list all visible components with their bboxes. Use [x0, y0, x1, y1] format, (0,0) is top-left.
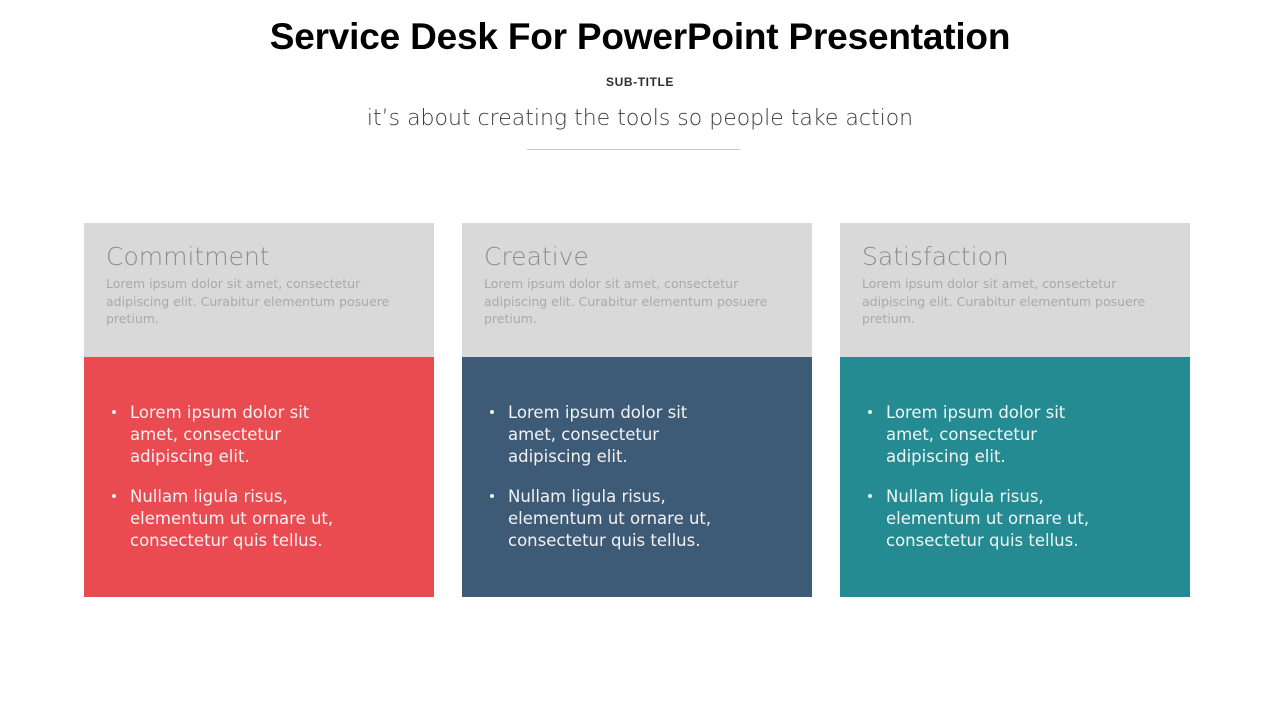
tagline-text: it’s about creating the tools so people … — [0, 106, 1280, 131]
card-body: Lorem ipsum dolor sit amet, consectetur … — [84, 357, 434, 597]
card-title: Commitment — [106, 241, 412, 272]
bullet-dot-icon — [868, 410, 872, 414]
bullet-dot-icon — [112, 494, 116, 498]
list-item: Nullam ligula risus, elementum ut ornare… — [488, 486, 723, 552]
card-commitment[interactable]: Commitment Lorem ipsum dolor sit amet, c… — [84, 223, 434, 597]
card-description: Lorem ipsum dolor sit amet, consectetur … — [862, 275, 1168, 328]
card-header: Satisfaction Lorem ipsum dolor sit amet,… — [840, 223, 1190, 357]
bullet-dot-icon — [112, 410, 116, 414]
list-item-text: Lorem ipsum dolor sit amet, consectetur … — [508, 403, 687, 466]
card-header: Commitment Lorem ipsum dolor sit amet, c… — [84, 223, 434, 357]
card-body: Lorem ipsum dolor sit amet, consectetur … — [462, 357, 812, 597]
list-item: Nullam ligula risus, elementum ut ornare… — [110, 486, 345, 552]
bullet-list: Lorem ipsum dolor sit amet, consectetur … — [488, 402, 786, 552]
card-title: Creative — [484, 241, 790, 272]
list-item: Lorem ipsum dolor sit amet, consectetur … — [110, 402, 345, 468]
bullet-list: Lorem ipsum dolor sit amet, consectetur … — [866, 402, 1164, 552]
list-item: Nullam ligula risus, elementum ut ornare… — [866, 486, 1101, 552]
bullet-dot-icon — [490, 410, 494, 414]
list-item-text: Nullam ligula risus, elementum ut ornare… — [886, 487, 1089, 550]
page-title: Service Desk For PowerPoint Presentation — [0, 16, 1280, 58]
header-divider — [527, 149, 740, 150]
card-description: Lorem ipsum dolor sit amet, consectetur … — [484, 275, 790, 328]
bullet-list: Lorem ipsum dolor sit amet, consectetur … — [110, 402, 408, 552]
card-creative[interactable]: Creative Lorem ipsum dolor sit amet, con… — [462, 223, 812, 597]
card-header: Creative Lorem ipsum dolor sit amet, con… — [462, 223, 812, 357]
list-item: Lorem ipsum dolor sit amet, consectetur … — [488, 402, 723, 468]
bullet-dot-icon — [490, 494, 494, 498]
card-satisfaction[interactable]: Satisfaction Lorem ipsum dolor sit amet,… — [840, 223, 1190, 597]
list-item-text: Nullam ligula risus, elementum ut ornare… — [508, 487, 711, 550]
subtitle-label: SUB-TITLE — [0, 75, 1280, 89]
list-item: Lorem ipsum dolor sit amet, consectetur … — [866, 402, 1101, 468]
card-body: Lorem ipsum dolor sit amet, consectetur … — [840, 357, 1190, 597]
list-item-text: Lorem ipsum dolor sit amet, consectetur … — [130, 403, 309, 466]
slide-canvas: Service Desk For PowerPoint Presentation… — [0, 0, 1280, 720]
card-title: Satisfaction — [862, 241, 1168, 272]
list-item-text: Lorem ipsum dolor sit amet, consectetur … — [886, 403, 1065, 466]
card-description: Lorem ipsum dolor sit amet, consectetur … — [106, 275, 412, 328]
bullet-dot-icon — [868, 494, 872, 498]
list-item-text: Nullam ligula risus, elementum ut ornare… — [130, 487, 333, 550]
